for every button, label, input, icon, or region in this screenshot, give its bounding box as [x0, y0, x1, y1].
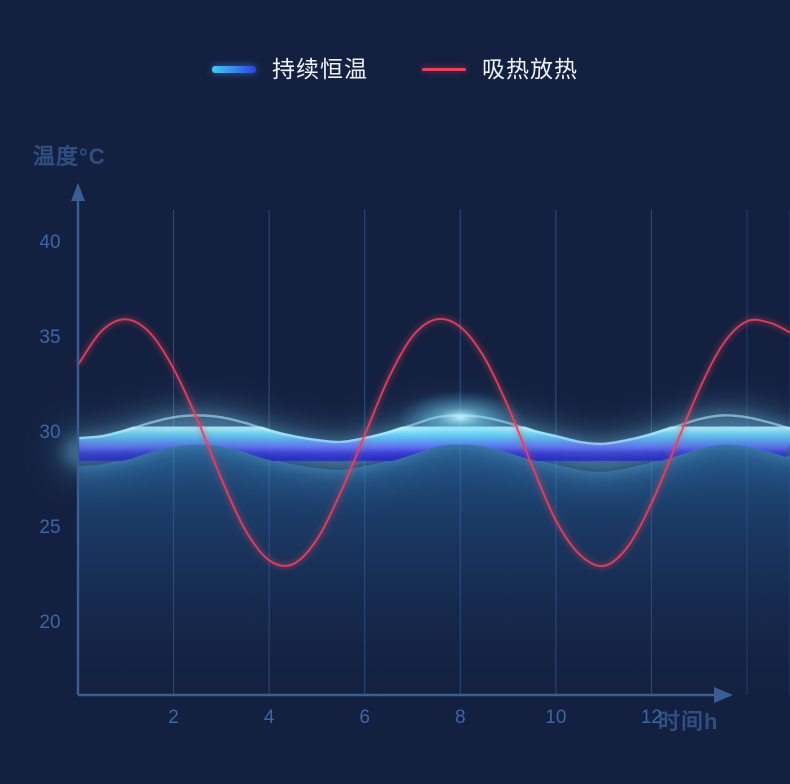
y-axis-arrow-icon [71, 183, 85, 201]
y-tick-label: 35 [39, 327, 60, 349]
plot-area [0, 0, 790, 784]
y-tick-label: 40 [39, 232, 60, 254]
y-tick-label: 20 [39, 612, 60, 634]
x-tick-label: 10 [545, 707, 566, 729]
x-tick-label: 4 [264, 707, 275, 729]
crest-glow-highlight [398, 391, 522, 443]
chart-canvas: 持续恒温 吸热放热 温度°C 时间h [0, 0, 790, 784]
x-tick-label: 2 [168, 707, 179, 729]
series-area-fill [78, 443, 790, 695]
y-tick-label: 30 [39, 422, 60, 444]
x-tick-label: 12 [641, 707, 662, 729]
y-tick-label: 25 [39, 517, 60, 539]
x-tick-label: 8 [455, 707, 466, 729]
x-tick-label: 6 [359, 707, 370, 729]
